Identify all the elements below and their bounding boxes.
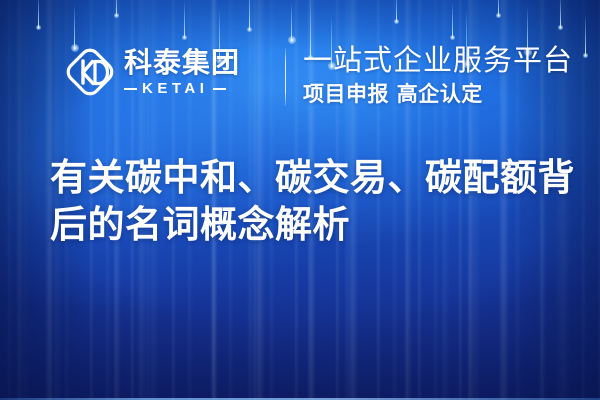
header-divider: [285, 48, 286, 106]
brand-name-en: KETAI: [142, 80, 208, 97]
promo-banner: 科泰集团 KETAI 一站式企业服务平台 项目申报 高企认定 有关碳中和、碳交易…: [0, 0, 600, 400]
brand-name-cn: 科泰集团: [124, 47, 240, 79]
banner-title-line-2: 后的名词概念解析: [50, 201, 570, 248]
falling-light-streak-icon: [116, 0, 117, 16]
falling-light-streak-icon: [396, 0, 397, 22]
dash-left-icon: [124, 88, 137, 90]
brand-wordmark: 科泰集团 KETAI: [124, 47, 240, 97]
falling-light-streak-icon: [38, 0, 39, 28]
banner-header: 科泰集团 KETAI 一站式企业服务平台 项目申报 高企认定: [0, 40, 600, 114]
ketai-diamond-kd-logo-icon: [62, 44, 118, 100]
falling-light-streak-icon: [560, 0, 561, 28]
banner-title-line-1: 有关碳中和、碳交易、碳配额背: [50, 154, 570, 201]
falling-light-streak-icon: [498, 0, 499, 16]
tagline-secondary: 项目申报 高企认定: [303, 80, 573, 108]
brand-name-en-row: KETAI: [124, 80, 240, 97]
falling-light-streak-icon: [291, 2, 292, 42]
tagline-primary: 一站式企业服务平台: [303, 42, 573, 78]
falling-light-streak-icon: [249, 0, 250, 30]
falling-light-streak-icon: [184, 0, 185, 38]
tagline-block: 一站式企业服务平台 项目申报 高企认定: [303, 42, 573, 108]
dash-right-icon: [213, 88, 226, 90]
brand-logo: 科泰集团 KETAI: [62, 44, 240, 100]
falling-light-streak-icon: [452, 2, 453, 38]
banner-title: 有关碳中和、碳交易、碳配额背 后的名词概念解析: [50, 154, 570, 248]
